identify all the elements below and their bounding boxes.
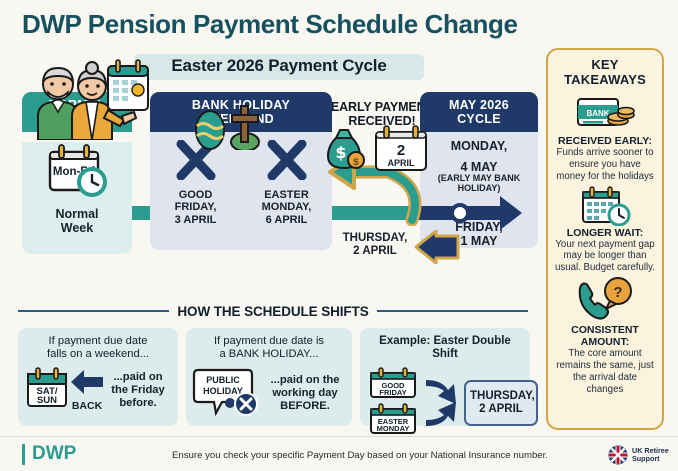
bh-result-line2: working day — [264, 387, 346, 400]
good-friday-label: GOOD FRIDAY, 3 APRIL — [150, 189, 241, 226]
svg-text:?: ? — [613, 284, 622, 301]
normal-cycle-body: Mon-Fri Normal Week — [22, 142, 132, 254]
may-cycle-header: MAY 2026 CYCLE — [420, 92, 538, 132]
public-label: PUBLIC — [206, 375, 240, 385]
good-friday-line1: GOOD — [150, 189, 241, 201]
may-4may-label: 4 MAY — [420, 153, 538, 174]
bh-rule-title-line2: a BANK HOLIDAY... — [192, 348, 346, 361]
example-result-line2: 2 APRIL — [470, 403, 532, 416]
weekend-rule-title-line2: falls on a weekend... — [24, 348, 172, 361]
may-cycle-header-line2: CYCLE — [422, 112, 536, 126]
footer: DWP Ensure you check your specific Payme… — [0, 436, 678, 471]
money-cal-day: 2 — [397, 142, 405, 159]
key-takeaways-title-line1: KEY — [555, 58, 655, 73]
weekend-rule-result: ...paid on the Friday before. — [104, 371, 172, 410]
key-takeaway-longer-wait: LONGER WAIT: Your next payment gap may b… — [555, 185, 655, 274]
bank-holiday-rule-result: ...paid on the working day BEFORE. — [264, 374, 346, 413]
thursday-label-line2: 2 APRIL — [334, 245, 416, 258]
divider-line-left — [18, 310, 169, 312]
ukrs-line2: Support — [632, 455, 669, 463]
page-title: DWP Pension Payment Schedule Change — [0, 0, 678, 39]
may-bank-holiday-note: (EARLY MAY BANK HOLIDAY) — [420, 174, 538, 194]
received-early-body: Funds arrive sooner to ensure you have m… — [555, 147, 655, 182]
footer-note: Ensure you check your specific Payment D… — [160, 450, 560, 461]
thursday-payment-label: THURSDAY, 2 APRIL — [334, 232, 416, 258]
key-takeaway-consistent-amount: ? CONSISTENT AMOUNT: The core amount rem… — [555, 276, 655, 395]
mon-fri-calendar-icon: Mon-Fri — [22, 142, 132, 205]
bank-card-coins-icon: BANK — [555, 93, 655, 133]
uk-retiree-support-text: UK Retiree Support — [632, 447, 669, 464]
svg-text:$: $ — [335, 143, 346, 162]
longer-wait-heading: LONGER WAIT: — [555, 227, 655, 239]
holiday-label: HOLIDAY — [203, 386, 243, 396]
key-takeaways-title: KEY TAKEAWAYS — [555, 58, 655, 87]
bank-holiday-rule-row: PUBLIC HOLIDAY ...paid on the working da… — [192, 366, 346, 421]
back-arrow-label: BACK — [70, 400, 104, 412]
elderly-couple-calendar-illustration — [30, 58, 150, 140]
may-flow-rail-dot — [450, 203, 470, 223]
main-content: Easter 2026 Payment Cycle — [0, 46, 678, 431]
key-takeaway-received-early: BANK RECEIVED EARLY: Funds arrive sooner… — [555, 93, 655, 182]
svg-text:BANK: BANK — [586, 109, 609, 118]
phone-question-icon: ? — [555, 276, 655, 322]
weekend-rule-title: If payment due date falls on a weekend..… — [24, 335, 172, 361]
normal-week-line2: Week — [22, 221, 132, 235]
monday-label: MONDAY — [377, 424, 410, 433]
example-arrows-group — [424, 366, 462, 441]
key-takeaways-panel: KEY TAKEAWAYS BANK RECEIVED EARLY: Funds… — [546, 48, 664, 430]
may-monday-label: MONDAY, — [420, 132, 538, 153]
svg-text:$: $ — [353, 157, 360, 168]
consistent-amount-heading: CONSISTENT AMOUNT: — [555, 324, 655, 348]
bh-rule-title-line1: If payment due date is — [192, 335, 346, 348]
uk-retiree-support-logo: UK Retiree Support — [608, 445, 669, 465]
bank-holiday-rule-title: If payment due date is a BANK HOLIDAY... — [192, 335, 346, 361]
sat-sun-calendar-icon: SAT/ SUN — [24, 366, 70, 415]
example-calendars-group: GOOD FRIDAY EASTER MONDAY — [366, 366, 422, 441]
union-jack-icon — [608, 445, 628, 465]
calendar-clock-icon — [555, 185, 655, 225]
shift-box-example: Example: Easter Double Shift GOOD FRIDAY — [360, 328, 530, 426]
section-divider: HOW THE SCHEDULE SHIFTS — [18, 301, 528, 321]
key-takeaways-title-line2: TAKEAWAYS — [555, 73, 655, 88]
back-arrow-icon — [70, 369, 104, 395]
may-cycle-header-line1: MAY 2026 — [422, 98, 536, 112]
example-title: Example: Easter Double Shift — [366, 335, 524, 362]
weekend-rule-row: SAT/ SUN BACK ...paid on the Friday befo… — [24, 366, 172, 415]
public-holiday-badge-icon: PUBLIC HOLIDAY — [192, 366, 264, 421]
friday-label: FRIDAY — [379, 388, 406, 397]
example-row: GOOD FRIDAY EASTER MONDAY — [366, 366, 524, 441]
easter-egg-cross-illustration — [190, 104, 260, 150]
good-friday-line2: FRIDAY, — [150, 201, 241, 213]
weekend-rule-title-line1: If payment due date — [24, 335, 172, 348]
dwp-logo: DWP — [22, 444, 76, 465]
weekend-result-line1: ...paid on — [104, 371, 172, 384]
money-cal-month: APRIL — [388, 158, 416, 168]
weekend-result-line3: before. — [104, 397, 172, 410]
sun-label: SUN — [37, 395, 57, 406]
thursday-label-line1: THURSDAY, — [334, 232, 416, 245]
divider-line-right — [377, 310, 528, 312]
cycle-banner-label: Easter 2026 Payment Cycle — [134, 56, 424, 76]
bh-result-line1: ...paid on the — [264, 374, 346, 387]
longer-wait-body: Your next payment gap may be longer than… — [555, 239, 655, 274]
divider-label: HOW THE SCHEDULE SHIFTS — [177, 304, 368, 319]
shift-box-weekend: If payment due date falls on a weekend..… — [18, 328, 178, 426]
example-result-line1: THURSDAY, — [470, 390, 532, 403]
may-flow-rail-arrow — [500, 196, 522, 230]
schedule-shift-boxes: If payment due date falls on a weekend..… — [18, 328, 530, 426]
payment-flow-panel: Easter 2026 Payment Cycle — [22, 46, 534, 286]
back-arrow-group: BACK — [70, 369, 104, 412]
shift-box-bank-holiday: If payment due date is a BANK HOLIDAY...… — [186, 328, 352, 426]
consistent-amount-body: The core amount remains the same, just t… — [555, 348, 655, 395]
example-result-box: THURSDAY, 2 APRIL — [464, 380, 538, 426]
normal-week-line1: Normal — [22, 207, 132, 221]
bh-result-line3: BEFORE. — [264, 400, 346, 413]
good-friday-date: 3 APRIL — [150, 214, 241, 226]
weekend-result-line2: the Friday — [104, 384, 172, 397]
normal-week-label: Normal Week — [22, 207, 132, 235]
thursday-shift-arrow — [414, 230, 460, 269]
money-bag-calendar-group: $ $ 2 APRIL — [322, 124, 432, 170]
received-early-heading: RECEIVED EARLY: — [555, 135, 655, 147]
